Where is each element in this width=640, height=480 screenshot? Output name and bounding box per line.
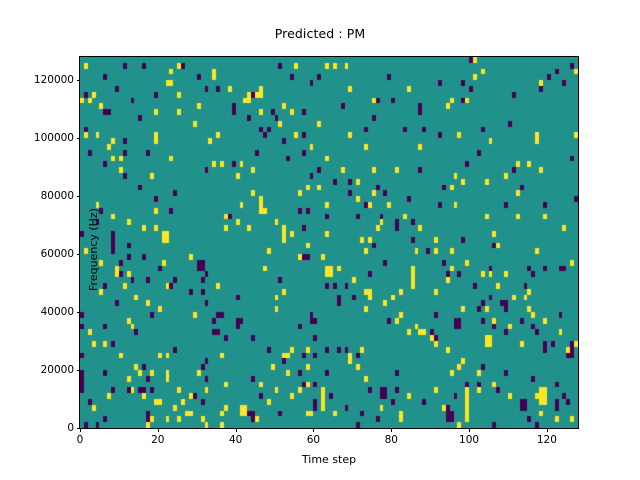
x-tick-mark xyxy=(391,428,392,432)
x-tick-label: 100 xyxy=(459,434,479,446)
x-tick-label: 120 xyxy=(537,434,557,446)
y-tick-mark xyxy=(77,312,81,313)
x-tick-mark xyxy=(547,428,548,432)
heatmap-plot-area xyxy=(79,56,579,429)
y-tick-mark xyxy=(77,370,81,371)
y-tick-label: 100000 xyxy=(34,132,74,144)
x-axis-label: Time step xyxy=(80,453,578,466)
x-tick-mark xyxy=(80,428,81,432)
y-tick-label: 80000 xyxy=(41,190,74,202)
y-tick-mark xyxy=(77,80,81,81)
matplotlib-figure: Predicted : PM 020406080100120 020000400… xyxy=(0,0,640,480)
y-axis-label: Frequency (Hz) xyxy=(87,64,100,435)
y-tick-mark xyxy=(77,254,81,255)
x-tick-label: 80 xyxy=(385,434,398,446)
x-tick-label: 40 xyxy=(229,434,242,446)
x-tick-label: 20 xyxy=(151,434,164,446)
y-tick-label: 40000 xyxy=(41,306,74,318)
x-tick-mark xyxy=(469,428,470,432)
x-tick-label: 0 xyxy=(77,434,84,446)
y-tick-mark xyxy=(77,138,81,139)
x-tick-label: 60 xyxy=(307,434,320,446)
page-title: Predicted : PM xyxy=(0,26,640,41)
y-tick-label: 0 xyxy=(67,422,74,434)
heatmap-image xyxy=(80,57,578,428)
y-tick-label: 120000 xyxy=(34,74,74,86)
x-tick-mark xyxy=(313,428,314,432)
y-tick-mark xyxy=(77,196,81,197)
x-tick-mark xyxy=(236,428,237,432)
y-tick-mark xyxy=(77,428,81,429)
x-tick-mark xyxy=(158,428,159,432)
y-tick-label: 60000 xyxy=(41,248,74,260)
y-tick-label: 20000 xyxy=(41,364,74,376)
